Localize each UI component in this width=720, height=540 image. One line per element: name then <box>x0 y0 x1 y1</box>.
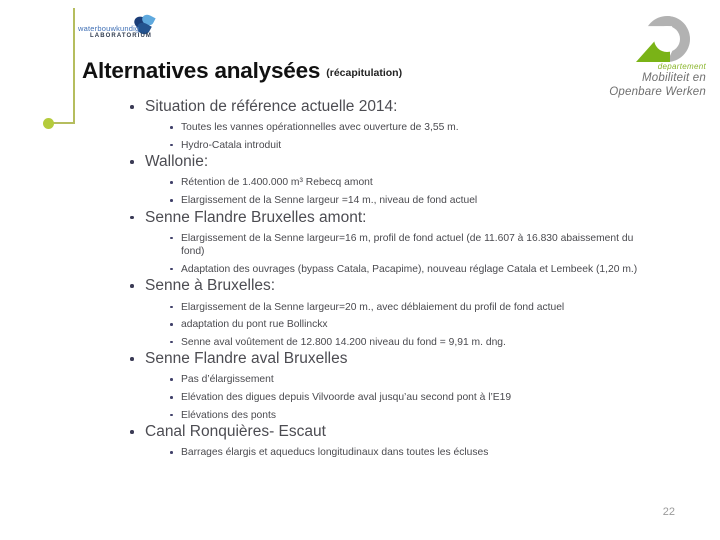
bullet-level2: Pas d’élargissement <box>128 373 648 387</box>
page-title: Alternatives analysées(récapitulation) <box>82 58 402 84</box>
slide: waterbouwkundig LABORATORIUM departement… <box>0 0 720 540</box>
sub-bullet-marker-icon <box>170 451 173 454</box>
decorative-horizontal-line <box>52 122 75 124</box>
bullet-level2: Rétention de 1.400.000 m³ Rebecq amont <box>128 176 648 190</box>
bullet-level1: Senne Flandre aval Bruxelles <box>128 349 648 369</box>
bullet-level2-label: Elargissement de la Senne largeur=20 m.,… <box>181 302 564 313</box>
decorative-vertical-line <box>73 8 75 124</box>
logo-left-wordmark: waterbouwkundig <box>78 24 139 33</box>
bullet-level2: Elargissement de la Senne largeur=16 m, … <box>128 232 648 259</box>
bullet-level2-label: Hydro-Catala introduit <box>181 140 281 151</box>
logo-left-subtitle: LABORATORIUM <box>90 33 152 39</box>
bullet-group: Situation de référence actuelle 2014:Tou… <box>128 97 648 152</box>
bullet-level2: Elargissement de la Senne largeur=20 m.,… <box>128 301 648 315</box>
bullet-marker-icon <box>130 160 134 164</box>
bullet-level2-label: Rétention de 1.400.000 m³ Rebecq amont <box>181 177 373 188</box>
bullet-level1: Situation de référence actuelle 2014: <box>128 97 648 117</box>
mobiliteit-openbare-werken-logo: departement Mobiliteit en Openbare Werke… <box>594 16 706 100</box>
bullet-group: Wallonie:Rétention de 1.400.000 m³ Rebec… <box>128 152 648 207</box>
sub-bullet-marker-icon <box>170 396 173 399</box>
bullet-level2-label: Elévation des digues depuis Vilvoorde av… <box>181 392 511 403</box>
sub-bullet-marker-icon <box>170 341 173 344</box>
bullet-level2-label: Adaptation des ouvrages (bypass Catala, … <box>181 264 637 275</box>
bullet-level2-label: Pas d’élargissement <box>181 374 274 385</box>
bullet-level2-label: Toutes les vannes opérationnelles avec o… <box>181 122 459 133</box>
logo-right-line1: Mobiliteit en <box>594 72 706 84</box>
bullet-level2-label: Senne aval voûtement de 12.800 14.200 ni… <box>181 337 506 348</box>
bullet-level2-label: adaptation du pont rue Bollinckx <box>181 319 328 330</box>
sub-bullet-marker-icon <box>170 126 173 129</box>
bullet-level2: Toutes les vannes opérationnelles avec o… <box>128 121 648 135</box>
decorative-dot <box>43 118 54 129</box>
bullet-marker-icon <box>130 357 134 361</box>
bullet-group: Senne à Bruxelles:Elargissement de la Se… <box>128 276 648 349</box>
bullet-marker-icon <box>130 105 134 109</box>
page-title-sub: (récapitulation) <box>326 67 402 79</box>
sub-bullet-marker-icon <box>170 144 173 147</box>
sub-bullet-marker-icon <box>170 323 173 326</box>
logo-right-department: departement <box>594 62 706 71</box>
bullet-level1: Canal Ronquières- Escaut <box>128 422 648 442</box>
bullet-group: Senne Flandre Bruxelles amont:Elargissem… <box>128 208 648 277</box>
bullet-level1-label: Canal Ronquières- Escaut <box>145 423 326 440</box>
bullet-level2-label: Elargissement de la Senne largeur=16 m, … <box>181 233 633 258</box>
bullet-level2: Adaptation des ouvrages (bypass Catala, … <box>128 263 648 277</box>
bullet-level2: Barrages élargis et aqueducs longitudina… <box>128 446 648 460</box>
bullet-level2: Elargissement de la Senne largeur =14 m.… <box>128 194 648 208</box>
page-number: 22 <box>663 506 675 518</box>
bullet-group: Canal Ronquières- EscautBarrages élargis… <box>128 422 648 460</box>
bullet-level1-label: Senne Flandre Bruxelles amont: <box>145 209 366 226</box>
bullet-group: Senne Flandre aval BruxellesPas d’élargi… <box>128 349 648 422</box>
mow-emblem-icon <box>636 16 692 62</box>
bullet-level1-label: Situation de référence actuelle 2014: <box>145 98 397 115</box>
bullet-marker-icon <box>130 284 134 288</box>
bullet-level2: adaptation du pont rue Bollinckx <box>128 318 648 332</box>
sub-bullet-marker-icon <box>170 237 173 240</box>
bullet-level1-label: Senne Flandre aval Bruxelles <box>145 350 347 367</box>
bullet-level2-label: Elargissement de la Senne largeur =14 m.… <box>181 195 477 206</box>
bullet-level2-label: Barrages élargis et aqueducs longitudina… <box>181 447 488 458</box>
sub-bullet-marker-icon <box>170 378 173 381</box>
bullet-level1: Senne Flandre Bruxelles amont: <box>128 208 648 228</box>
sub-bullet-marker-icon <box>170 268 173 271</box>
page-title-main: Alternatives analysées <box>82 58 320 83</box>
content-body: Situation de référence actuelle 2014:Tou… <box>128 97 648 460</box>
bullet-level1-label: Senne à Bruxelles: <box>145 277 275 294</box>
sub-bullet-marker-icon <box>170 181 173 184</box>
bullet-level2: Hydro-Catala introduit <box>128 139 648 153</box>
bullet-marker-icon <box>130 216 134 220</box>
bullet-marker-icon <box>130 430 134 434</box>
bullet-level1-label: Wallonie: <box>145 153 208 170</box>
bullet-level2: Senne aval voûtement de 12.800 14.200 ni… <box>128 336 648 350</box>
bullet-level1: Senne à Bruxelles: <box>128 276 648 296</box>
bullet-level2-label: Elévations des ponts <box>181 410 276 421</box>
mow-center-hole <box>654 26 680 52</box>
bullet-level1: Wallonie: <box>128 152 648 172</box>
bullet-level2: Elévations des ponts <box>128 409 648 423</box>
sub-bullet-marker-icon <box>170 414 173 417</box>
bullet-level2: Elévation des digues depuis Vilvoorde av… <box>128 391 648 405</box>
waterbouwkundig-laboratorium-logo: waterbouwkundig LABORATORIUM <box>78 15 166 45</box>
sub-bullet-marker-icon <box>170 306 173 309</box>
sub-bullet-marker-icon <box>170 199 173 202</box>
